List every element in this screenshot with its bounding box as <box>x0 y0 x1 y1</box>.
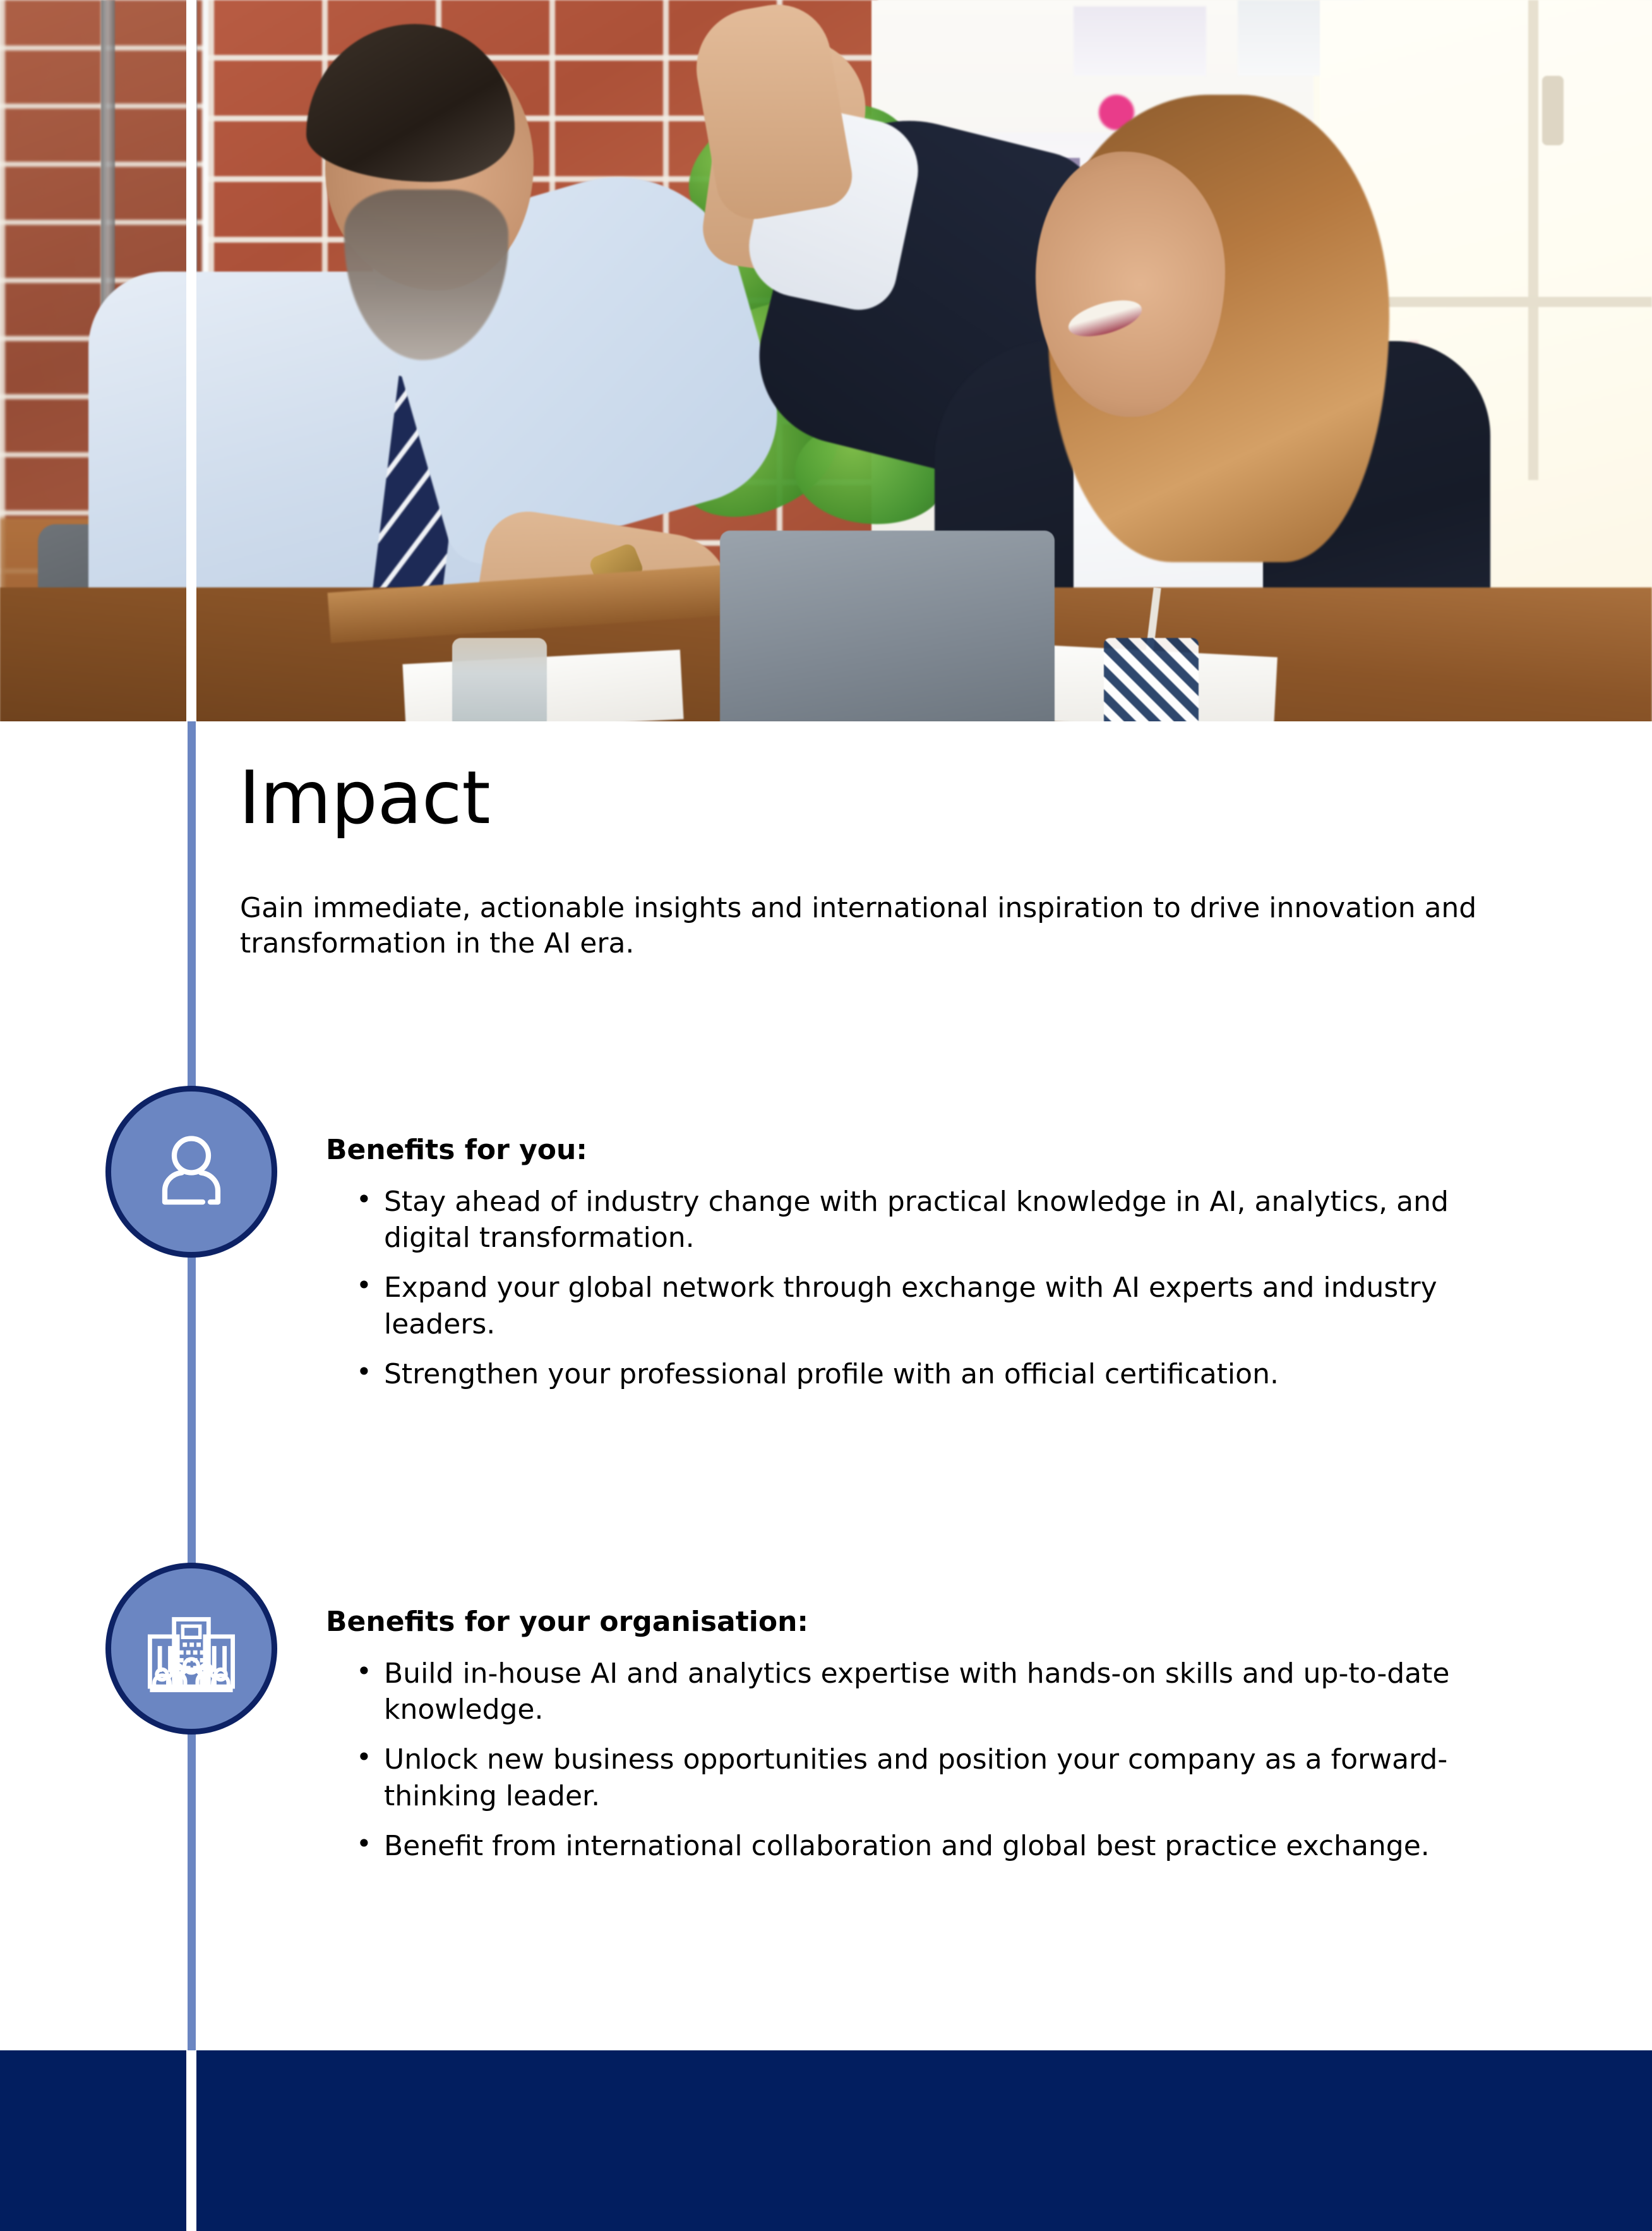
wall-chart-a <box>1074 6 1206 76</box>
timeline-node-benefits-for-organisation <box>105 1563 277 1735</box>
glass-mug <box>452 638 547 721</box>
page-title: Impact <box>239 762 490 835</box>
timeline-notch-in-band <box>186 2050 196 2231</box>
list-item: Stay ahead of industry change with pract… <box>384 1184 1540 1256</box>
window-mullion-vertical <box>1528 0 1538 480</box>
window-handle <box>1542 76 1564 145</box>
organisation-building-icon <box>140 1597 243 1700</box>
section-benefits-for-you: Benefits for you: Stay ahead of industry… <box>326 1134 1576 1392</box>
page-subtitle: Gain immediate, actionable insights and … <box>240 891 1516 962</box>
timeline-vertical-line <box>188 721 196 2052</box>
list-item: Benefit from international collaboration… <box>384 1828 1540 1864</box>
list-item: Expand your global network through excha… <box>384 1270 1540 1342</box>
patterned-mug <box>1104 638 1199 721</box>
bottom-navy-band <box>0 2050 1652 2231</box>
timeline-node-benefits-for-you <box>105 1086 277 1258</box>
section-heading: Benefits for you: <box>326 1134 1576 1166</box>
benefits-list-organisation: Build in-house AI and analytics expertis… <box>326 1656 1576 1864</box>
list-item: Strengthen your professional profile wit… <box>384 1356 1540 1392</box>
list-item: Build in-house AI and analytics expertis… <box>384 1656 1540 1728</box>
laptop <box>720 531 1055 721</box>
timeline-notch-in-photo <box>186 0 196 721</box>
section-heading: Benefits for your organisation: <box>326 1606 1576 1638</box>
person-icon <box>144 1124 239 1219</box>
benefits-list-you: Stay ahead of industry change with pract… <box>326 1184 1576 1392</box>
list-item: Unlock new business opportunities and po… <box>384 1741 1540 1813</box>
hero-image <box>0 0 1652 721</box>
section-benefits-for-organisation: Benefits for your organisation: Build in… <box>326 1606 1576 1864</box>
